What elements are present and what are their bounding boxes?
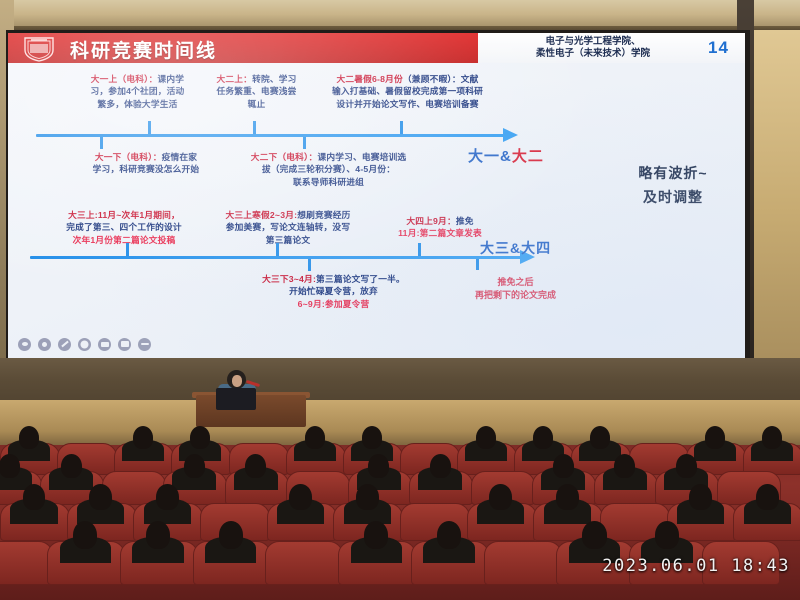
audience-head — [614, 454, 635, 478]
audience-head — [590, 426, 610, 449]
block-line2: 输入打基础、暑假留校完成第一项科研 — [332, 86, 483, 96]
department-line-2: 柔性电子（未来技术）学院 — [498, 48, 688, 60]
timeline-tick-down-1 — [100, 137, 103, 149]
slide-title: 科研竞赛时间线 — [70, 36, 217, 63]
red-note-line-1: 推免之后 — [428, 276, 603, 289]
audience-head — [190, 426, 210, 449]
block-line1: 想刷竞赛经历 — [297, 210, 350, 220]
timeline-label-year3-year4: 大三&大四 — [480, 238, 551, 258]
pointer-icon[interactable] — [18, 338, 31, 351]
audience-head — [762, 426, 782, 449]
side-note-line-2: 及时调整 — [608, 185, 738, 209]
block-line2: 任务繁重、电赛浅尝 — [217, 86, 297, 96]
side-note-line-1: 略有波折~ — [608, 161, 738, 185]
slide-header: 科研竞赛时间线 电子与光学工程学院、 柔性电子（未来技术）学院 14 — [8, 33, 745, 63]
label-year2: 大二 — [512, 148, 544, 165]
block-head: 大一下（电科）： — [95, 152, 162, 162]
block-line2: 拔（完成三轮积分赛）、4-5月份： — [262, 164, 395, 174]
block-line1: 课内学 — [158, 74, 185, 84]
block-head: 大四上9月： — [406, 216, 455, 226]
presentation-toolbar[interactable] — [12, 333, 158, 355]
block-line1: 课内学习、电赛培训选 — [317, 152, 406, 162]
block-freshman-spring: 大一下（电科）：疫情在家 学习，科研竞赛没怎么开始 — [56, 151, 236, 176]
side-note: 略有波折~ 及时调整 — [608, 161, 738, 209]
laptop — [216, 388, 256, 410]
block-line1: 推免 — [456, 216, 474, 226]
seat — [484, 541, 562, 585]
block-line2: 参加美赛，写论文连轴转，没写 — [226, 222, 350, 232]
slide-page-number: 14 — [708, 38, 729, 58]
block-line2: 开始忙碌夏令营，放弃 — [289, 286, 378, 296]
seat — [265, 541, 343, 585]
block-head: 大三上:11月~次年1月期间， — [68, 210, 180, 220]
audience-seating — [0, 445, 800, 600]
audience-head — [533, 426, 553, 449]
audience-head — [184, 454, 205, 478]
block-line2: 次年1月份第二篇论文投稿 — [73, 235, 176, 245]
projected-slide: 科研竞赛时间线 电子与光学工程学院、 柔性电子（未来技术）学院 14 大一上（电… — [8, 33, 745, 358]
notes-icon[interactable] — [118, 338, 131, 351]
block-line1: 完成了第三、四个工作的设计 — [66, 222, 182, 232]
university-shield-emblem-icon — [22, 36, 56, 62]
audience-head — [289, 484, 311, 510]
timeline-label-year1-year2: 大一&大二 — [468, 145, 544, 166]
audience-head — [364, 521, 388, 549]
audience-head — [476, 426, 496, 449]
audience-head — [19, 426, 39, 449]
block-line3: 第三篇论文 — [266, 235, 310, 245]
timeline-axis-lower — [30, 256, 522, 259]
timeline-tick-up-5 — [276, 243, 279, 257]
audience-head — [553, 454, 574, 478]
block-line1: 疫情在家 — [162, 152, 198, 162]
timeline-tick-up-2 — [253, 121, 256, 135]
timeline-tick-up-6 — [418, 243, 421, 257]
block-line3: 6~9月:参加夏令营 — [298, 299, 370, 309]
seat — [0, 541, 53, 585]
record-icon[interactable] — [38, 338, 51, 351]
screen-icon[interactable] — [98, 338, 111, 351]
block-sophomore-summer: 大二暑假6-8月份（兼顾不暇）：文献 输入打基础、暑假留校完成第一项科研 设计并… — [290, 73, 525, 110]
audience-head — [73, 521, 97, 549]
block-junior-spring: 大三下3~4月:第三篇论文写了一半。 开始忙碌夏令营，放弃 6~9月:参加夏令营 — [226, 273, 441, 310]
lecture-hall-photo: 科研竞赛时间线 电子与光学工程学院、 柔性电子（未来技术）学院 14 大一上（电… — [0, 0, 800, 600]
audience-head — [23, 484, 45, 510]
block-line1: （兼顾不暇）：文献 — [403, 74, 479, 84]
label-year3-year4: 大三&大四 — [480, 240, 551, 256]
red-note-line-2: 再把剩下的论文完成 — [428, 289, 603, 302]
audience-head — [245, 454, 266, 478]
block-head: 大一上（电科）： — [91, 74, 158, 84]
block-head: 大二下（电科）： — [251, 152, 318, 162]
audience-head — [146, 521, 170, 549]
audience-head — [61, 454, 82, 478]
audience-head — [156, 484, 178, 510]
block-line2: 11月:第二篇文章发表 — [398, 228, 482, 238]
audience-head — [489, 484, 511, 510]
block-junior-winter: 大三上寒假2~3月:想刷竞赛经历 参加美赛，写论文连轴转，没写 第三篇论文 — [198, 209, 378, 246]
timeline-tick-down-2 — [303, 137, 306, 149]
audience-head — [582, 521, 606, 549]
block-sophomore-spring: 大二下（电科）：课内学习、电赛培训选 拔（完成三轮积分赛）、4-5月份： 联系导… — [226, 151, 431, 188]
block-line3: 繁多，体验大学生活 — [98, 99, 178, 109]
block-junior-fall: 大三上:11月~次年1月期间， 完成了第三、四个工作的设计 次年1月份第二篇论文… — [34, 209, 214, 246]
audience-head — [437, 521, 461, 549]
timeline-tick-down-3 — [308, 259, 311, 271]
audience-head — [430, 454, 451, 478]
audience-head — [705, 426, 725, 449]
audience-head — [219, 521, 243, 549]
camera-timestamp: 2023.06.01 18:43 — [602, 556, 790, 576]
block-line3: 联系导师科研进组 — [293, 177, 364, 187]
timeline-tick-down-4 — [476, 259, 479, 270]
block-line2: 习，参加4个社团，活动 — [91, 86, 185, 96]
red-note: 推免之后 再把剩下的论文完成 — [428, 276, 603, 302]
timeline-tick-up-3 — [400, 121, 403, 135]
audience-head — [356, 484, 378, 510]
block-line3: 辄止 — [248, 99, 266, 109]
department-name: 电子与光学工程学院、 柔性电子（未来技术）学院 — [498, 36, 688, 59]
presenter-face — [232, 375, 242, 387]
audience-head — [0, 454, 20, 478]
audience-head — [689, 484, 711, 510]
audience-head — [676, 454, 697, 478]
block-head: 大二上： — [217, 74, 253, 84]
more-icon[interactable] — [138, 338, 151, 351]
block-head: 大二暑假6-8月份 — [336, 74, 402, 84]
audience-head — [655, 521, 679, 549]
block-senior-fall: 大四上9月：推免 11月:第二篇文章发表 — [360, 215, 520, 240]
block-head: 大三上寒假2~3月: — [225, 210, 297, 220]
timeline-tick-up-1 — [148, 121, 151, 135]
timeline-arrow-upper — [503, 128, 518, 142]
block-head: 大三下3~4月: — [262, 274, 316, 284]
audience-head — [362, 426, 382, 449]
audience-head — [89, 484, 111, 510]
pen-icon[interactable] — [58, 338, 71, 351]
audience-head — [133, 426, 153, 449]
audience-head — [556, 484, 578, 510]
label-year1: 大一 — [468, 148, 500, 165]
block-line2: 学习，科研竞赛没怎么开始 — [93, 164, 200, 174]
department-line-1: 电子与光学工程学院、 — [498, 36, 688, 48]
block-line1: 第三篇论文写了一半。 — [316, 274, 405, 284]
block-line3: 设计并开始论文写作、电赛培训备赛 — [336, 99, 478, 109]
audience-head — [756, 484, 778, 510]
audience-head — [368, 454, 389, 478]
spotlight-icon[interactable] — [78, 338, 91, 351]
label-amp: & — [500, 148, 512, 165]
timeline-axis-upper — [36, 134, 506, 137]
timeline-tick-up-4 — [126, 243, 129, 257]
right-wall-panel — [752, 30, 800, 362]
audience-head — [305, 426, 325, 449]
